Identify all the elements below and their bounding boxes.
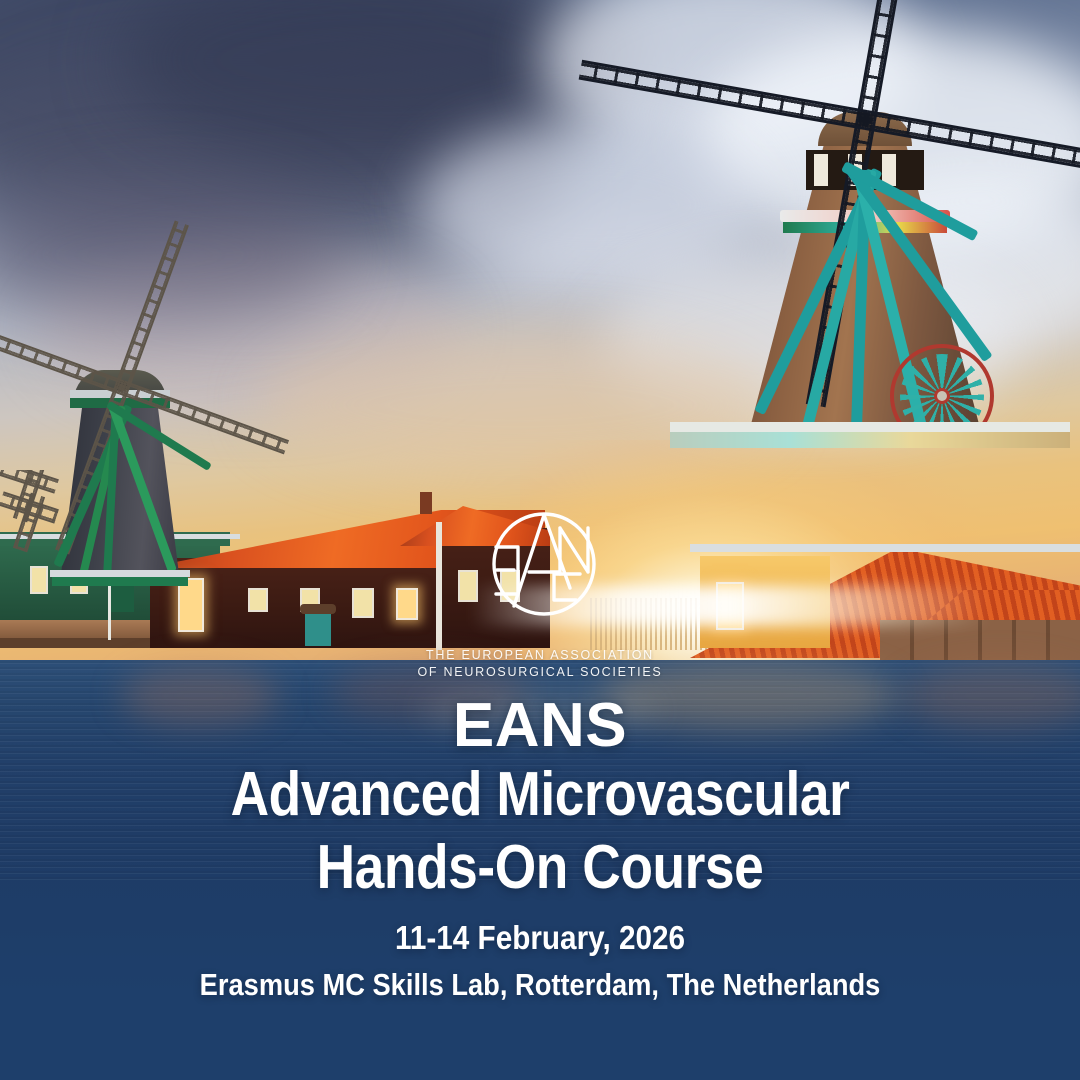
event-venue: Erasmus MC Skills Lab, Rotterdam, The Ne… xyxy=(65,966,1015,1004)
course-title-line-2: Hands-On Course xyxy=(76,831,1005,904)
title-block: EANS Advanced Microvascular Hands-On Cou… xyxy=(0,694,1080,1004)
organization-name: EANS xyxy=(0,694,1080,758)
tagline-line-1: THE EUROPEAN ASSOCIATION xyxy=(0,647,1080,664)
course-title-line-1: Advanced Microvascular xyxy=(76,758,1005,831)
windmill-right xyxy=(600,0,1080,490)
event-poster: THE EUROPEAN ASSOCIATION OF NEUROSURGICA… xyxy=(0,0,1080,1080)
event-dates: 11-14 February, 2026 xyxy=(54,918,1026,958)
eans-logo xyxy=(484,502,604,622)
windmill-left xyxy=(0,240,330,670)
tagline-line-2: OF NEUROSURGICAL SOCIETIES xyxy=(0,664,1080,681)
eans-tagline: THE EUROPEAN ASSOCIATION OF NEUROSURGICA… xyxy=(0,647,1080,681)
